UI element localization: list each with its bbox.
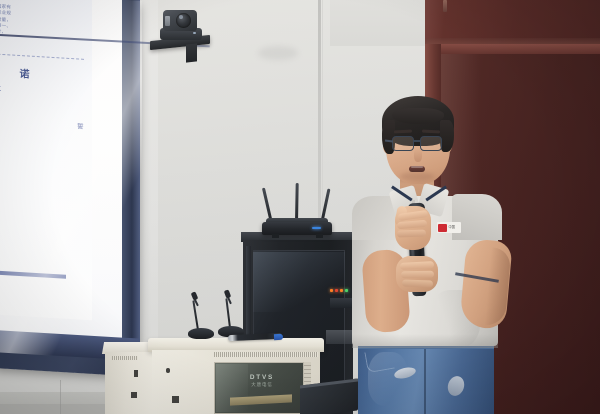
cabinet-vent-slots (112, 356, 138, 360)
cabinet-screw (134, 370, 138, 377)
camera-side-strip (165, 16, 170, 26)
microphone-blue-tip (274, 334, 283, 340)
projection-screen-surface: 公司全体员工认真学 习贯彻执行， 一、严格遵守国家有 关法律法规和行业规 范，保… (0, 0, 128, 356)
camera-status-led (193, 32, 196, 34)
alarm-led-icon (335, 289, 338, 292)
camera-mount-arm (186, 43, 197, 62)
upper-hand-finger (397, 229, 426, 237)
doc-blue-bar (0, 267, 66, 279)
cabinet-screw (131, 392, 137, 398)
power-led-icon (330, 289, 333, 292)
projected-document: 公司全体员工认真学 习贯彻执行， 一、严格遵守国家有 关法律法规和行业规 范，保… (0, 0, 92, 320)
cabinet-vent-slots (214, 352, 318, 357)
photo-scene: 公司全体员工认真学 习贯彻执行， 一、严格遵守国家有 关法律法规和行业规 范，保… (0, 0, 600, 414)
cabinet-brand-subtext: 大唐电信 (236, 382, 288, 388)
power-led-icon (340, 289, 343, 292)
logo-text: 中国 (449, 226, 456, 229)
cabinet-screw (166, 368, 170, 373)
lower-hand-finger (402, 279, 433, 287)
doc-heading: 诺 (0, 62, 84, 84)
lower-hand-finger (401, 271, 434, 279)
hair-fringe (392, 108, 444, 124)
rack-label-plate (326, 330, 352, 344)
wall-scuff (258, 46, 298, 60)
mouth-teeth-highlight (411, 166, 423, 168)
eyeglasses-lens-right (420, 136, 442, 151)
status-led-icon (345, 289, 348, 292)
camera-lens-glint (179, 15, 183, 19)
shirt-right-shoulder (452, 194, 502, 240)
eyeglasses-bridge (413, 140, 421, 142)
shirt-hem (352, 334, 498, 348)
eyeglasses-lens-left (392, 136, 414, 151)
gooseneck-microphone (188, 328, 214, 339)
cabinet-brand-text: DTVS (236, 374, 288, 381)
person-nose (414, 148, 422, 162)
projection-screen-right-edge (122, 0, 140, 369)
hair-side-right (440, 120, 454, 152)
rack-front-panel (330, 298, 352, 308)
cabinet-left-face (105, 352, 155, 414)
chin-shadow (400, 172, 434, 181)
door-frame-top (425, 44, 600, 54)
router-foot (316, 234, 323, 238)
wall-panel-line (60, 380, 61, 414)
router-foot (272, 234, 279, 238)
rack-indicator-leds (330, 288, 354, 293)
logo-red-mark-icon (438, 224, 447, 232)
jeans-seam (424, 349, 426, 414)
door-hinge (443, 0, 447, 12)
shirt-logo-patch: 中国 (437, 222, 461, 233)
router-led-icon (312, 227, 321, 229)
cabinet-screw (172, 396, 179, 403)
